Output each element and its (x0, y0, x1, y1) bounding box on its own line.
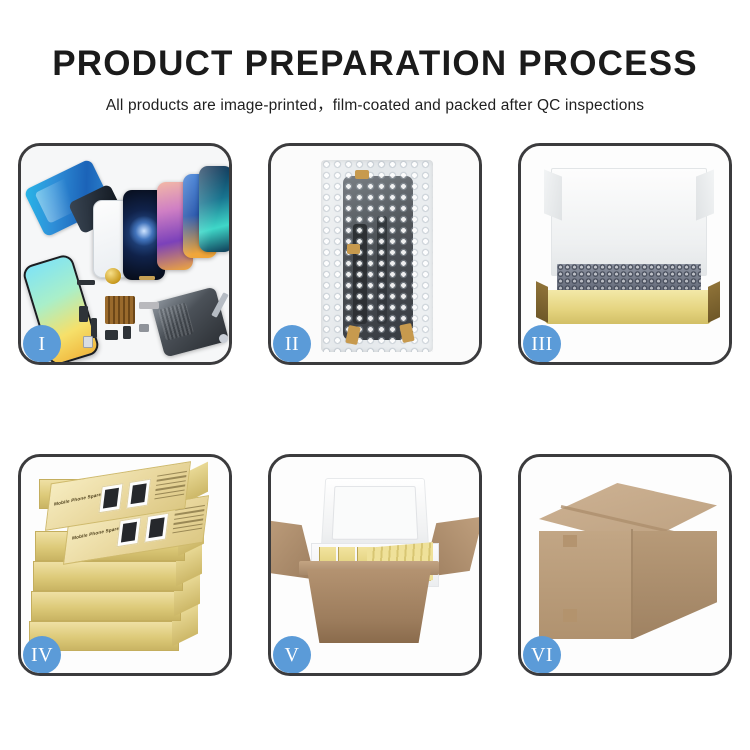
step-panel-2: II (268, 143, 482, 365)
carton-tape-icon (563, 535, 577, 547)
step-badge-5: V (273, 636, 311, 674)
spare-part-icon (139, 276, 155, 280)
spare-part-icon (79, 306, 88, 322)
step-badge-2: II (273, 325, 311, 363)
box-spec-lines-icon (172, 505, 205, 541)
page-title: PRODUCT PREPARATION PROCESS (0, 0, 750, 84)
bubble-texture-icon (321, 160, 433, 352)
screw-icon (219, 334, 228, 343)
box-window-icon (144, 513, 169, 543)
spare-part-icon (83, 336, 93, 348)
step-badge-3: III (523, 325, 561, 363)
tape-icon (347, 244, 360, 254)
retail-box-icon (31, 591, 181, 621)
spare-part-icon (139, 324, 149, 332)
box-spec-lines-icon (154, 471, 187, 507)
bubble-wrap-bag-icon (321, 160, 433, 352)
kraft-inner-box-icon (545, 290, 711, 324)
white-box-lid-icon (551, 168, 707, 276)
spare-part-icon (105, 330, 118, 340)
step-badge-4: IV (23, 636, 61, 674)
step-panel-3: III (518, 143, 732, 365)
phone-back-housing-icon (151, 286, 229, 357)
step-panel-1: I (18, 143, 232, 365)
spare-part-icon (91, 318, 97, 338)
step-panel-5: V (268, 454, 482, 676)
vibration-motor-icon (105, 268, 121, 284)
carton-tape-icon (563, 609, 577, 622)
retail-box-icon (33, 561, 183, 591)
box-stack-icon: Mobile Phone Spare Parts Mobile Phone Sp… (29, 471, 227, 667)
carton-front-face-icon (539, 531, 633, 639)
carton-edge-icon (631, 529, 633, 639)
page-subtitle: All products are image-printed，film-coat… (0, 84, 750, 115)
step-badge-6: VI (523, 636, 561, 674)
carton-side-face-icon (633, 531, 717, 639)
tape-icon (355, 170, 369, 179)
chip-array-icon (105, 296, 135, 324)
carton-body-icon (307, 569, 431, 643)
box-window-icon (126, 479, 151, 509)
step-badge-1: I (23, 325, 61, 363)
spare-part-icon (77, 280, 95, 285)
step-panel-4: Mobile Phone Spare Parts Mobile Phone Sp… (18, 454, 232, 676)
step-panel-6: VI (518, 454, 732, 676)
foam-lid-icon (321, 478, 430, 553)
box-window-icon (116, 517, 141, 547)
process-steps-grid: I II III (18, 143, 732, 676)
spare-part-icon (123, 326, 131, 339)
phone-screen-teal-icon (199, 166, 232, 252)
spare-part-icon (139, 302, 159, 309)
product-preparation-process-infographic: PRODUCT PREPARATION PROCESS All products… (0, 0, 750, 750)
box-window-icon (98, 483, 123, 513)
header: PRODUCT PREPARATION PROCESS All products… (0, 0, 750, 115)
